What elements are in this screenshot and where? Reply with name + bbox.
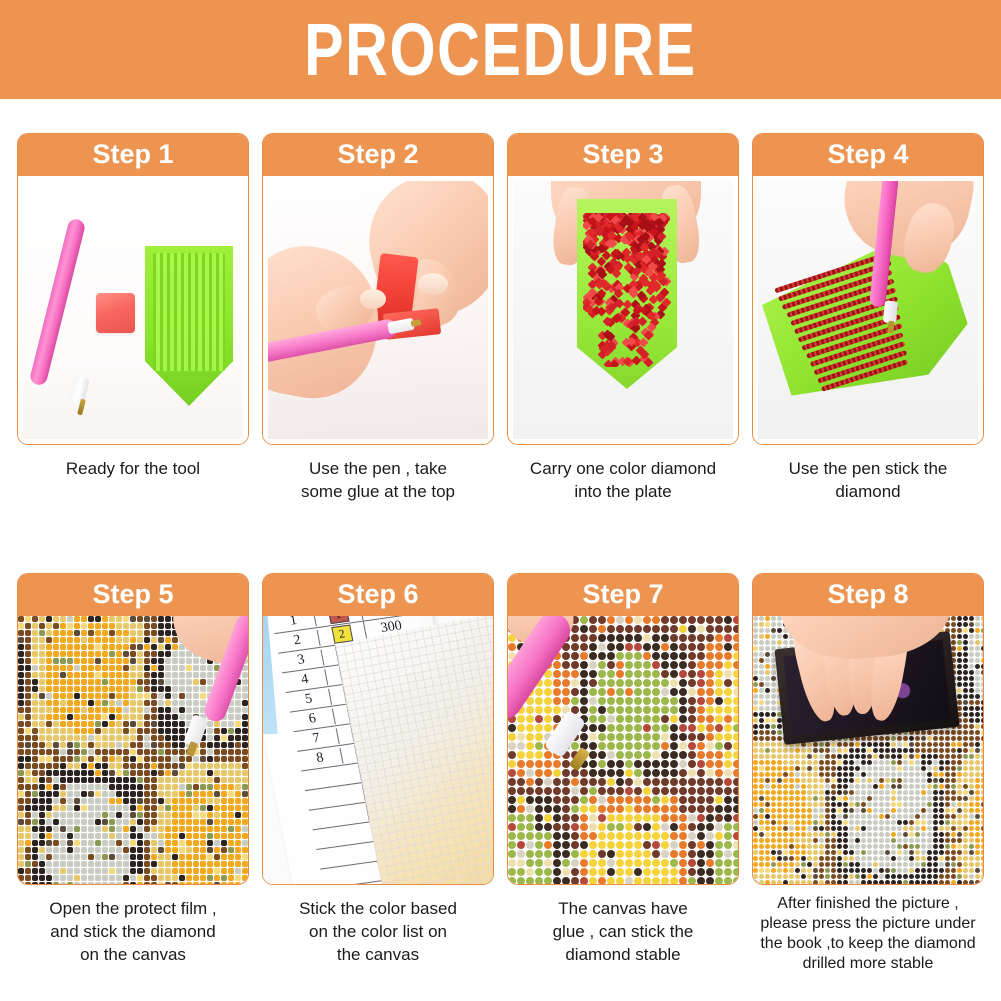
serial-cell bbox=[311, 814, 354, 820]
step-label-1: Step 1 bbox=[92, 141, 173, 168]
hands-with-wax-illustration bbox=[268, 181, 488, 439]
step-caption-5: Open the protect film , and stick the di… bbox=[17, 897, 249, 966]
step-label-7: Step 7 bbox=[582, 581, 663, 608]
caption-line: Stick the color based bbox=[262, 897, 494, 920]
caption-line: Open the protect film , bbox=[17, 897, 249, 920]
step-image-7 bbox=[508, 616, 738, 884]
serial-cell bbox=[318, 853, 361, 859]
caption-line: the canvas bbox=[262, 943, 494, 966]
step-card-2[interactable]: Step 2 bbox=[262, 133, 494, 445]
caption-line: diamond stable bbox=[507, 943, 739, 966]
step-caption-7: The canvas have glue , can stick the dia… bbox=[507, 897, 739, 966]
step-image-4 bbox=[753, 176, 983, 444]
step-image-6: SerialSymbolDMC1122300333074431055581666… bbox=[263, 616, 493, 884]
step-label-3: Step 3 bbox=[582, 141, 663, 168]
step-caption-3: Carry one color diamond into the plate bbox=[507, 457, 739, 503]
wax-square-icon bbox=[96, 293, 135, 333]
color-list-illustration: SerialSymbolDMC1122300333074431055581666… bbox=[263, 616, 493, 884]
page-title: PROCEDURE bbox=[304, 13, 697, 87]
step-cell-7: Step 7 The canvas have glue , can stick … bbox=[507, 573, 739, 966]
step-caption-8: After finished the picture , please pres… bbox=[752, 894, 984, 974]
pressing-book-illustration bbox=[753, 616, 983, 884]
step-label-5: Step 5 bbox=[92, 581, 173, 608]
caption-line: and stick the diamond bbox=[17, 920, 249, 943]
bead-closeup-illustration bbox=[508, 616, 738, 884]
caption-line: diamond bbox=[752, 480, 984, 503]
serial-cell bbox=[303, 775, 346, 781]
step-image-3 bbox=[508, 176, 738, 444]
step-card-1[interactable]: Step 1 bbox=[17, 133, 249, 445]
tray-grooves-icon bbox=[153, 253, 225, 371]
step-label-6: Step 6 bbox=[337, 581, 418, 608]
caption-line: into the plate bbox=[507, 480, 739, 503]
step-card-header-2: Step 2 bbox=[262, 133, 494, 176]
step-card-6[interactable]: Step 6 SerialSymbolDMC112230033307443105… bbox=[262, 573, 494, 885]
step-card-5[interactable]: Step 5 bbox=[17, 573, 249, 885]
caption-line: Use the pen , take bbox=[262, 457, 494, 480]
caption-line: glue , can stick the bbox=[507, 920, 739, 943]
tray-with-diamonds-illustration bbox=[513, 181, 733, 439]
step-image-5 bbox=[18, 616, 248, 884]
red-diamonds-group bbox=[583, 213, 671, 367]
tools-illustration bbox=[23, 181, 243, 439]
pen-picking-diamond-illustration bbox=[758, 181, 978, 439]
caption-line: drilled more stable bbox=[752, 954, 984, 974]
step-image-8 bbox=[753, 616, 983, 884]
caption-line: the book ,to keep the diamond bbox=[752, 934, 984, 954]
mosaic-canvas-illustration bbox=[18, 616, 248, 884]
serial-cell bbox=[307, 794, 350, 800]
step-caption-6: Stick the color based on the color list … bbox=[262, 897, 494, 966]
caption-line: please press the picture under bbox=[752, 914, 984, 934]
caption-line: on the canvas bbox=[17, 943, 249, 966]
step-cell-5: Step 5 Open the protect film , and stick… bbox=[17, 573, 249, 966]
caption-line: Use the pen stick the bbox=[752, 457, 984, 480]
step-caption-4: Use the pen stick the diamond bbox=[752, 457, 984, 503]
step-image-2 bbox=[263, 176, 493, 444]
serial-cell bbox=[322, 873, 365, 879]
step-card-header-5: Step 5 bbox=[17, 573, 249, 616]
step-cell-2: Step 2 Use the pen , tak bbox=[262, 133, 494, 503]
caption-line: Ready for the tool bbox=[17, 457, 249, 480]
step-caption-2: Use the pen , take some glue at the top bbox=[262, 457, 494, 503]
caption-line: The canvas have bbox=[507, 897, 739, 920]
caption-line: After finished the picture , bbox=[752, 894, 984, 914]
step-cell-8: Step 8 After finished the picture , plea… bbox=[752, 573, 984, 974]
step-card-header-7: Step 7 bbox=[507, 573, 739, 616]
step-cell-4: Step 4 Use the pen stick the diamond bbox=[752, 133, 984, 503]
caption-line: some glue at the top bbox=[262, 480, 494, 503]
page-header-banner: PROCEDURE bbox=[0, 0, 1001, 99]
step-label-8: Step 8 bbox=[827, 581, 908, 608]
serial-cell bbox=[315, 834, 358, 840]
caption-line: on the color list on bbox=[262, 920, 494, 943]
fingernail-icon bbox=[418, 273, 448, 295]
step-card-header-8: Step 8 bbox=[752, 573, 984, 616]
pen-tip-icon bbox=[887, 321, 894, 334]
caption-line: Carry one color diamond bbox=[507, 457, 739, 480]
step-card-7[interactable]: Step 7 bbox=[507, 573, 739, 885]
step-card-header-6: Step 6 bbox=[262, 573, 494, 616]
step-card-header-3: Step 3 bbox=[507, 133, 739, 176]
step-image-1 bbox=[18, 176, 248, 444]
step-cell-1: Step 1 Ready for the tool bbox=[17, 133, 249, 480]
step-label-4: Step 4 bbox=[827, 141, 908, 168]
step-card-3[interactable]: Step 3 bbox=[507, 133, 739, 445]
pink-pen-icon bbox=[29, 217, 87, 386]
step-card-4[interactable]: Step 4 bbox=[752, 133, 984, 445]
step-card-8[interactable]: Step 8 bbox=[752, 573, 984, 885]
step-label-2: Step 2 bbox=[337, 141, 418, 168]
step-card-header-4: Step 4 bbox=[752, 133, 984, 176]
step-caption-1: Ready for the tool bbox=[17, 457, 249, 480]
step-cell-6: Step 6 SerialSymbolDMC112230033307443105… bbox=[262, 573, 494, 966]
step-cell-3: Step 3 Carry one color diamond into the … bbox=[507, 133, 739, 503]
step-card-header-1: Step 1 bbox=[17, 133, 249, 176]
fingernail-icon bbox=[360, 289, 386, 309]
